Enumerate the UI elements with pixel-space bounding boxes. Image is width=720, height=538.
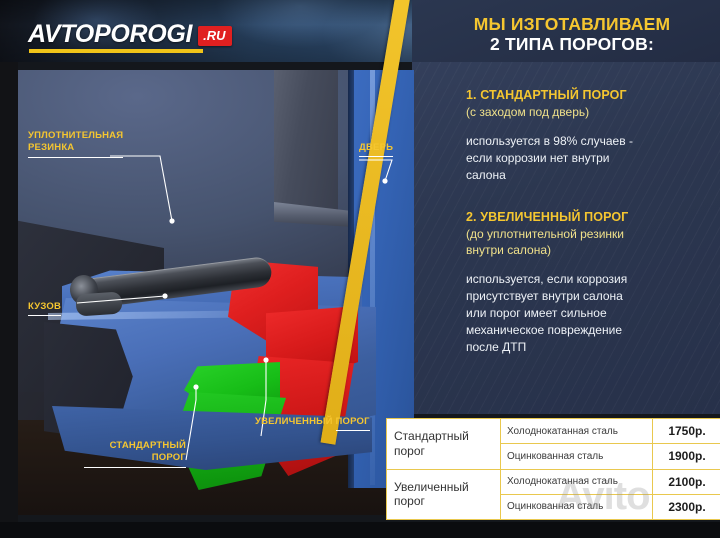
label-extended-sill: УВЕЛИЧЕННЫЙ ПОРОГ — [255, 416, 370, 431]
label-body-line1: КУЗОВ — [28, 301, 61, 316]
label-door: ДВЕРЬ — [359, 142, 393, 157]
label-seal: УПЛОТНИТЕЛЬНАЯ РЕЗИНКА — [28, 130, 123, 158]
label-standard-line1: СТАНДАРТНЫЙ — [110, 440, 186, 451]
advertisement-image: УПЛОТНИТЕЛЬНАЯ РЕЗИНКА КУЗОВ ДВЕРЬ СТАНД… — [0, 0, 720, 538]
label-extended-line2: ПОРОГ — [336, 416, 370, 431]
bottom-frame-bar — [0, 522, 720, 538]
label-seal-line1: УПЛОТНИТЕЛЬНАЯ — [28, 130, 123, 141]
label-standard-sill: СТАНДАРТНЫЙ ПОРОГ — [84, 440, 186, 468]
label-standard-line2: ПОРОГ — [84, 452, 186, 467]
label-extended-line1: УВЕЛИЧЕННЫЙ — [255, 416, 333, 427]
label-body: КУЗОВ — [28, 301, 61, 316]
label-door-line1: ДВЕРЬ — [359, 142, 393, 157]
label-seal-line2: РЕЗИНКА — [28, 142, 123, 157]
